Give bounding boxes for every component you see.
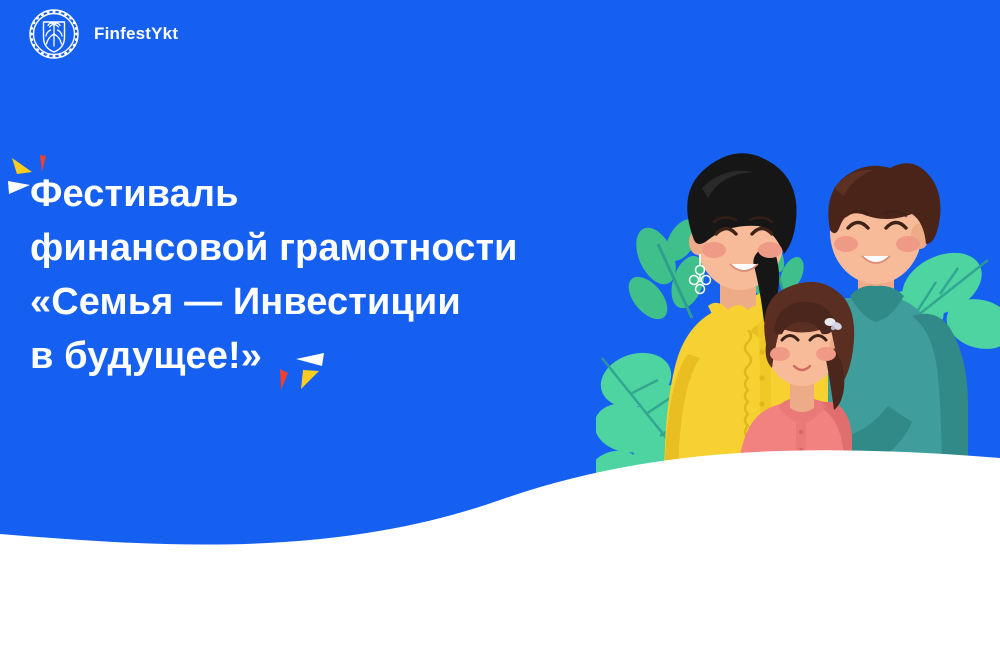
brand-logo[interactable]: FinfestYkt	[28, 8, 178, 60]
confetti-cluster-left	[6, 150, 56, 198]
confetti-cluster-right	[272, 345, 332, 395]
white-triangle-icon	[296, 353, 324, 366]
red-triangle-icon	[280, 369, 288, 390]
family-illustration	[596, 148, 1000, 488]
headline-line-1: Фестиваль	[30, 168, 518, 222]
headline-line-2: финансовой грамотности	[30, 222, 518, 276]
brand-wordmark: FinfestYkt	[94, 24, 178, 44]
finfest-crest-icon	[28, 8, 80, 60]
yellow-triangle-icon	[12, 158, 32, 174]
red-triangle-icon	[40, 155, 46, 172]
white-triangle-icon	[8, 181, 30, 194]
headline-line-3: «Семья — Инвестиции	[30, 276, 518, 330]
promo-banner: FinfestYkt Фестиваль финансовой грамотно…	[0, 0, 1000, 666]
yellow-triangle-icon	[301, 370, 319, 389]
